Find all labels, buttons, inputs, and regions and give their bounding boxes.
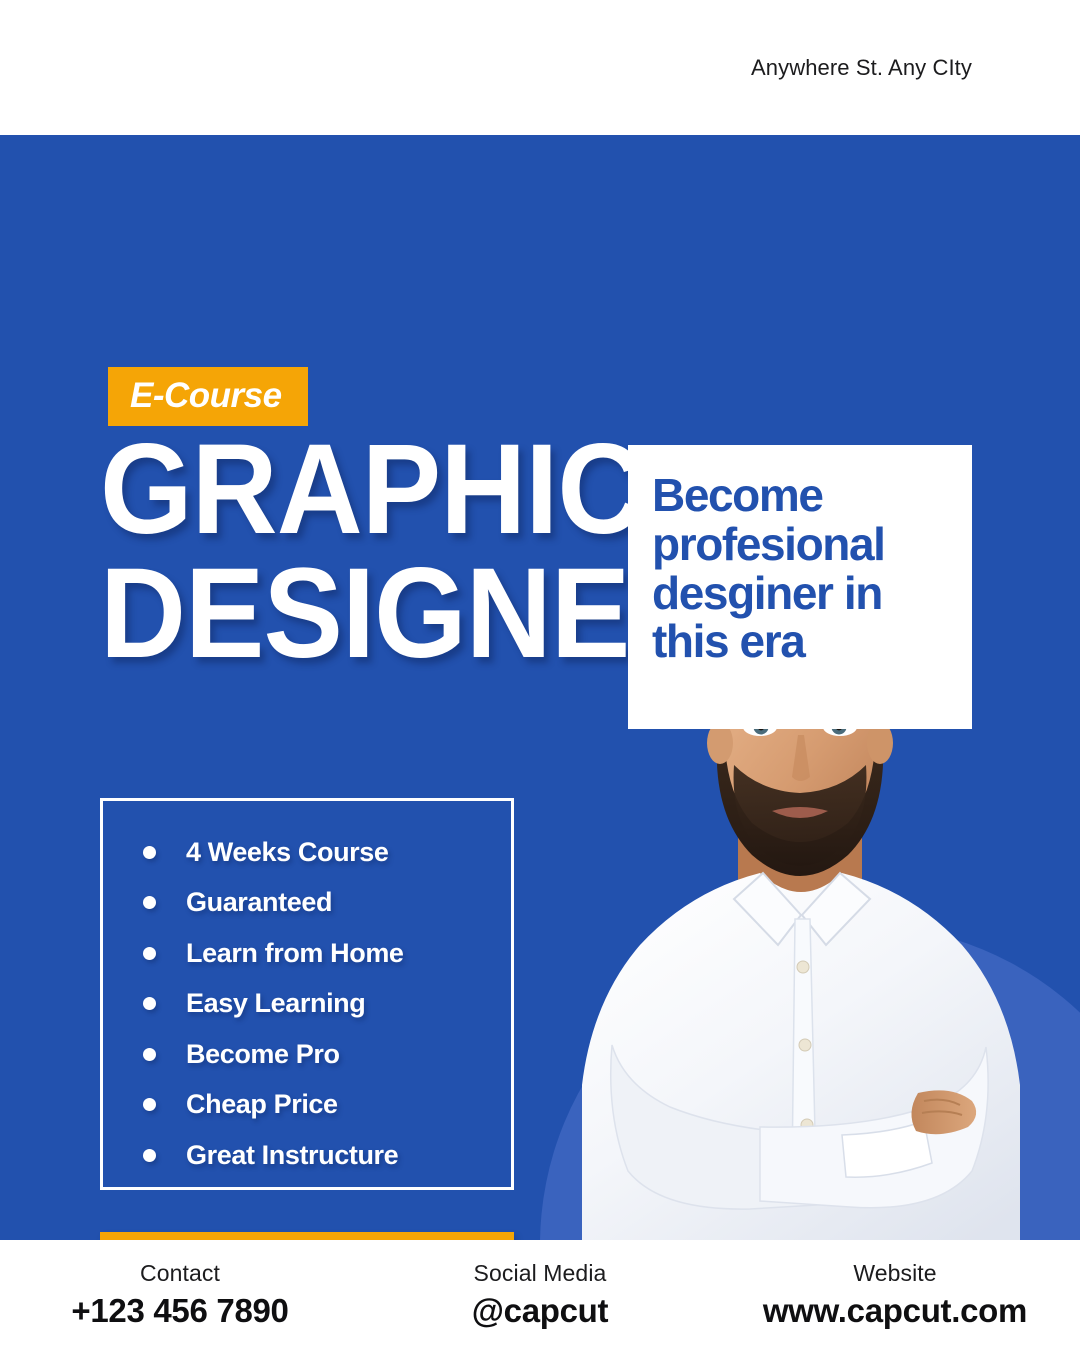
feature-label: Become Pro [186,1039,340,1070]
hero-panel: E-Course GRAPHIC DESIGNER Become profesi… [0,135,1080,1240]
feature-label: Learn from Home [186,938,404,969]
features-list: 4 Weeks Course Guaranteed Learn from Hom… [143,827,404,1181]
feature-label: Cheap Price [186,1089,338,1120]
footer-website-column: Website www.capcut.com [740,1260,1050,1331]
list-item: 4 Weeks Course [143,827,404,878]
list-item: Great Instructure [143,1130,404,1181]
footer: Contact +123 456 7890 Social Media @capc… [0,1240,1080,1350]
list-item: Become Pro [143,1029,404,1080]
footer-social-title: Social Media [390,1260,690,1288]
list-item: Easy Learning [143,979,404,1030]
footer-social-column: Social Media @capcut [390,1260,690,1331]
features-box: 4 Weeks Course Guaranteed Learn from Hom… [100,798,514,1190]
footer-social-value[interactable]: @capcut [390,1290,690,1331]
bullet-dot-icon [143,846,156,859]
list-item: Learn from Home [143,928,404,979]
page-title-line-1: GRAPHIC [100,435,584,545]
bullet-dot-icon [143,1149,156,1162]
footer-contact-column: Contact +123 456 7890 [30,1260,330,1331]
footer-contact-title: Contact [30,1260,330,1288]
feature-label: Guaranteed [186,887,332,918]
bullet-dot-icon [143,947,156,960]
footer-contact-value[interactable]: +123 456 7890 [30,1290,330,1331]
bullet-dot-icon [143,1098,156,1111]
subheadline-box: Become profesional desginer in this era [628,445,972,729]
registration-bar[interactable]: Registration : capcut.com [100,1232,514,1240]
header-address-text: Anywhere St. Any CIty [751,55,972,81]
page-title-line-2: DESIGNER [100,559,584,669]
footer-website-title: Website [740,1260,1050,1288]
header-band: Anywhere St. Any CIty [0,0,1080,135]
bullet-dot-icon [143,1048,156,1061]
page-title: GRAPHIC DESIGNER [100,435,620,669]
list-item: Guaranteed [143,878,404,929]
list-item: Cheap Price [143,1080,404,1131]
feature-label: Great Instructure [186,1140,398,1171]
bullet-dot-icon [143,896,156,909]
ecourse-badge-label: E-Course [130,376,282,415]
feature-label: 4 Weeks Course [186,837,389,868]
feature-label: Easy Learning [186,988,365,1019]
bullet-dot-icon [143,997,156,1010]
subheadline-text: Become profesional desginer in this era [652,471,950,666]
footer-website-value[interactable]: www.capcut.com [740,1290,1050,1331]
